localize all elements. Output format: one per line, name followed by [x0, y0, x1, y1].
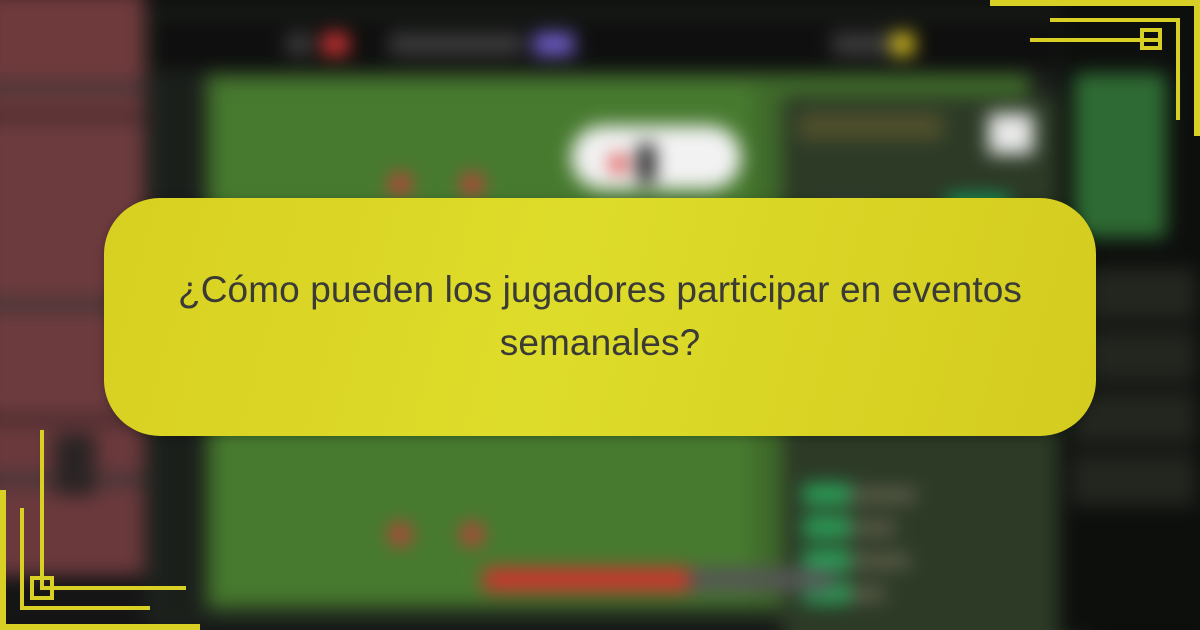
map-tile-top — [0, 0, 145, 114]
right-panel-card-4 — [1072, 454, 1196, 506]
screenshot-canvas: ¿Cómo pueden los jugadores participar en… — [0, 0, 1200, 630]
question-card: ¿Cómo pueden los jugadores participar en… — [104, 198, 1096, 436]
score-pill-dot — [609, 154, 628, 173]
score-pill-bar — [638, 144, 654, 183]
stats-value-2 — [803, 517, 850, 538]
pitch-marker-2 — [461, 173, 484, 196]
score-pill — [571, 125, 741, 189]
pitch-marker-3 — [389, 523, 412, 546]
window-toolbar — [152, 16, 1058, 70]
toolbar-item-4 — [533, 33, 574, 56]
question-text: ¿Cómo pueden los jugadores participar en… — [170, 264, 1030, 369]
pitch-marker-4 — [461, 523, 484, 546]
toolbar-item-5 — [832, 33, 894, 56]
toolbar-item-2 — [322, 33, 349, 56]
right-panel-green-block — [1074, 73, 1167, 238]
progress-bar-fill — [484, 568, 690, 591]
toolbar-item-6 — [891, 33, 914, 56]
map-dark-block — [54, 433, 95, 495]
progress-bar-track — [484, 568, 834, 591]
stats-value-3 — [803, 550, 850, 571]
toolbar-item-3 — [389, 33, 523, 56]
map-divider-1 — [0, 83, 145, 93]
stats-value-1 — [803, 484, 850, 505]
toolbar-item-1 — [286, 33, 313, 56]
stats-panel-avatar — [988, 113, 1033, 154]
stats-panel-header — [799, 113, 943, 140]
pitch-marker-1 — [389, 173, 412, 196]
